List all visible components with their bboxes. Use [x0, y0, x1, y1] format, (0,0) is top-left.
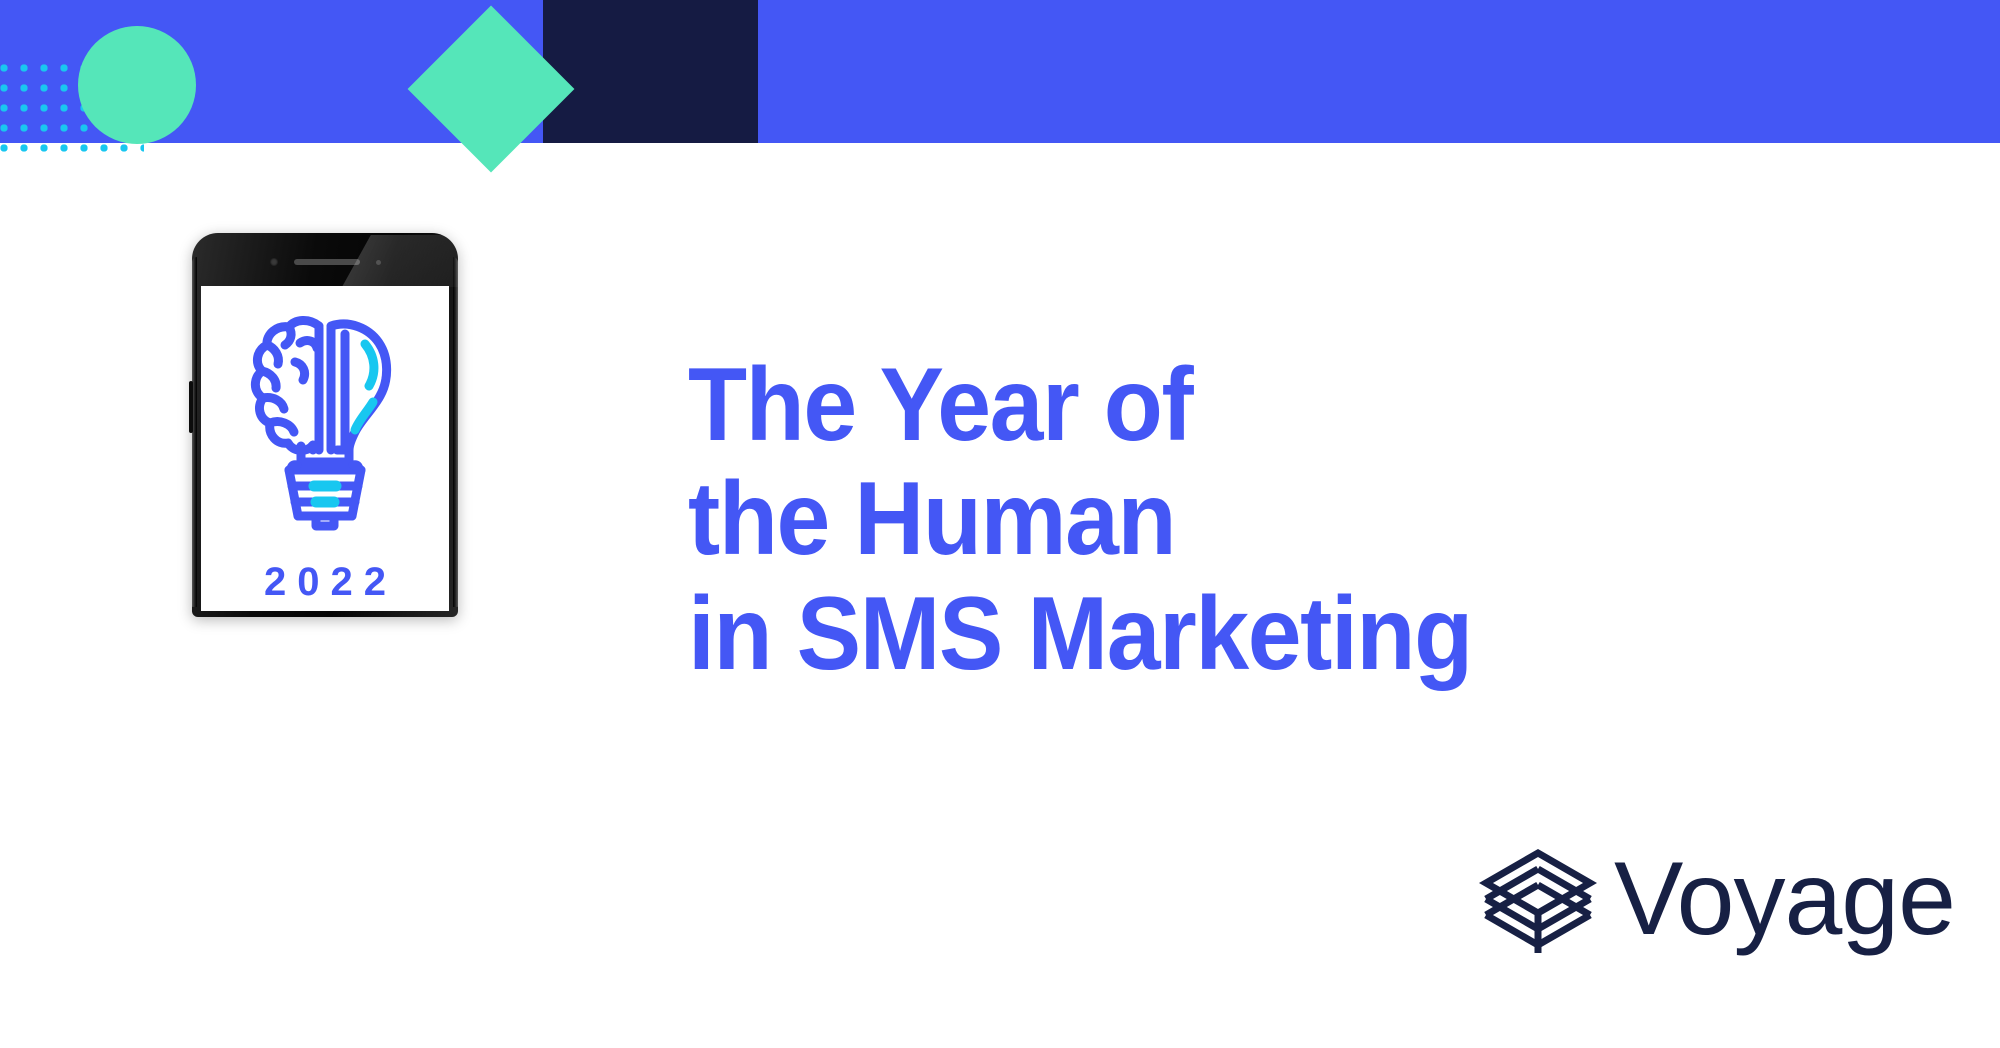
phone-edge-left — [192, 257, 197, 607]
earpiece-speaker-icon — [294, 259, 360, 265]
poster-canvas: 2022 The Year of the Human in SMS Market… — [0, 0, 2000, 1048]
phone-top-bezel — [201, 239, 449, 285]
green-circle-shape — [78, 26, 196, 144]
phone-side-button — [189, 381, 193, 433]
phone-screen: 2022 — [201, 286, 449, 611]
headline-line-1: The Year of — [688, 348, 1758, 462]
phone-edge-right — [453, 257, 458, 607]
front-camera-icon — [270, 258, 278, 266]
brain-lightbulb-icon — [237, 310, 413, 542]
page-title: The Year of the Human in SMS Marketing — [688, 348, 1758, 691]
banner-blue-bar — [0, 0, 2000, 143]
voyage-logo: Voyage — [1478, 843, 1955, 963]
year-label: 2022 — [201, 562, 449, 602]
headline-line-2: the Human — [688, 462, 1758, 576]
stacked-layers-icon — [1478, 843, 1598, 963]
voyage-wordmark: Voyage — [1614, 847, 1955, 951]
headline-line-3: in SMS Marketing — [688, 577, 1758, 691]
banner-navy-block — [543, 0, 758, 143]
phone-mockup: 2022 — [192, 233, 458, 617]
proximity-sensor-icon — [376, 260, 381, 265]
